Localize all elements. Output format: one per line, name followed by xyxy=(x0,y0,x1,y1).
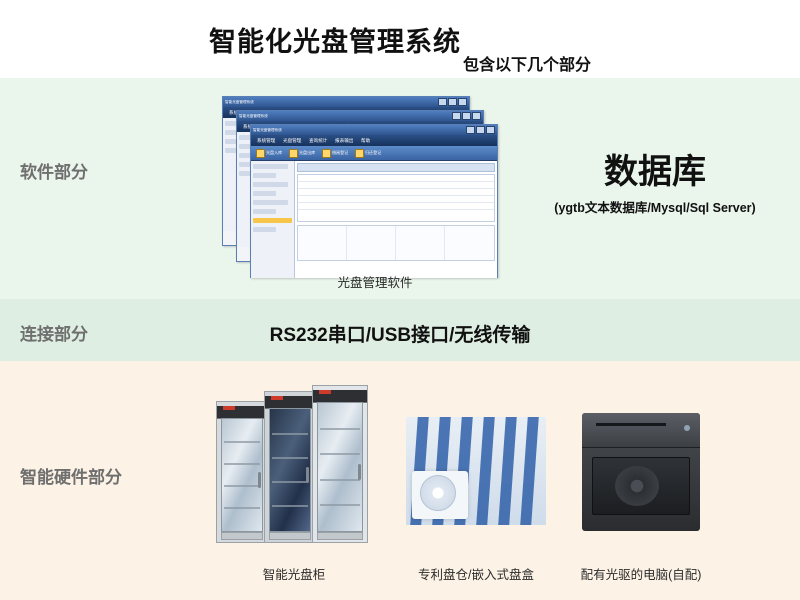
toolbar-label-0: 光盘入库 xyxy=(266,150,282,155)
window-buttons-front xyxy=(466,126,495,134)
cabinet-glass-door xyxy=(317,402,363,532)
cabinet-shelf xyxy=(224,507,260,509)
disc-icon xyxy=(420,475,456,511)
cabinet-shelf xyxy=(272,481,308,483)
close-icon xyxy=(458,98,467,106)
band-label-software: 软件部分 xyxy=(20,158,88,183)
cabinet-shelf xyxy=(320,453,360,455)
grid-line xyxy=(298,189,494,196)
sidebar-row-selected xyxy=(253,218,292,223)
disc-icon xyxy=(615,466,659,506)
cabinet-left xyxy=(216,401,268,543)
window-title-text-middle: 智能光盘管理系统 xyxy=(239,113,268,118)
software-screenshot-stack: 智能光盘管理系统 系统管理 光盘管理 查询统计 报表输出 xyxy=(222,96,512,276)
status-led-icon xyxy=(223,406,235,410)
minimize-icon xyxy=(466,126,475,134)
app-window-front: 智能光盘管理系统 系统管理 光盘管理 查询统计 报表输出 帮助 光盘入库 xyxy=(250,124,498,278)
toolbar-label-1: 光盘出库 xyxy=(299,150,315,155)
window-menubar-front: 系统管理 光盘管理 查询统计 报表输出 帮助 xyxy=(251,135,497,146)
caption-cabinet: 智能光盘柜 xyxy=(216,564,372,583)
optical-drive-tray xyxy=(592,457,690,515)
grid-body xyxy=(297,174,495,222)
close-icon xyxy=(486,126,495,134)
cabinet-shelf xyxy=(320,479,360,481)
connect-text: RS232串口/USB接口/无线传输 xyxy=(0,320,800,347)
grid-cell xyxy=(347,226,396,260)
window-titlebar-back: 智能光盘管理系统 xyxy=(223,97,469,107)
cabinet-handle xyxy=(358,464,361,480)
menu-item-1: 光盘管理 xyxy=(283,137,301,143)
sidebar-row xyxy=(253,173,276,178)
cabinet-right xyxy=(312,385,368,543)
caption-pc: 配有光驱的电脑(自配) xyxy=(572,564,710,583)
return-icon xyxy=(355,149,364,158)
cabinet-shelf xyxy=(224,485,260,487)
grid-cell xyxy=(445,226,494,260)
window-title-text-back: 智能光盘管理系统 xyxy=(225,99,254,104)
cabinet-handle xyxy=(258,472,261,488)
toolbar-button-3: 归还登记 xyxy=(355,149,383,158)
grid-header xyxy=(297,163,495,172)
hardware-image-cabinet xyxy=(216,381,372,543)
close-icon xyxy=(472,112,481,120)
cabinet-glass-door xyxy=(221,418,263,532)
diagram-page: 智能化光盘管理系统 包含以下几个部分 软件部分 智能光盘管理系统 系统管理 光盘… xyxy=(0,0,800,600)
window-titlebar-middle: 智能光盘管理系统 xyxy=(237,111,483,121)
status-led-icon xyxy=(319,390,331,394)
tray-stripe xyxy=(498,417,517,525)
maximize-icon xyxy=(448,98,457,106)
toolbar-label-2: 借阅登记 xyxy=(332,150,348,155)
window-buttons-middle xyxy=(452,112,481,120)
cabinet-shelf xyxy=(272,505,308,507)
pc-top-panel xyxy=(582,413,700,448)
cabinet-base xyxy=(221,532,263,540)
window-body-front xyxy=(251,161,497,278)
borrow-icon xyxy=(322,149,331,158)
toolbar-label-3: 归还登记 xyxy=(365,150,381,155)
tray-stripe xyxy=(476,417,495,525)
grid-cell xyxy=(298,226,347,260)
power-led-icon xyxy=(684,425,690,431)
caption-disc-tray: 专利盘仓/嵌入式盘盒 xyxy=(400,564,552,583)
toolbar-button-0: 光盘入库 xyxy=(256,149,284,158)
cabinet-shelf xyxy=(224,463,260,465)
sidebar-row xyxy=(253,227,276,232)
disc-in-icon xyxy=(256,149,265,158)
menu-item-3: 报表输出 xyxy=(335,137,353,143)
window-titlebar-front: 智能光盘管理系统 xyxy=(251,125,497,135)
sidebar-row xyxy=(253,191,276,196)
menu-item-4: 帮助 xyxy=(361,137,370,143)
grid-secondary xyxy=(297,225,495,261)
window-title-text-front: 智能光盘管理系统 xyxy=(253,127,282,132)
cabinet-shelf xyxy=(320,428,360,430)
minimize-icon xyxy=(452,112,461,120)
sidebar-row xyxy=(253,182,288,187)
maximize-icon xyxy=(462,112,471,120)
menu-item-0: 系统管理 xyxy=(257,137,275,143)
sidebar-row xyxy=(253,200,288,205)
disc-out-icon xyxy=(289,149,298,158)
minimize-icon xyxy=(438,98,447,106)
hardware-image-pc xyxy=(582,413,700,531)
window-sidebar-front xyxy=(251,161,295,278)
database-subtitle: (ygtb文本数据库/Mysql/Sql Server) xyxy=(520,197,790,216)
cabinet-shelf xyxy=(272,433,308,435)
cabinet-glass-door xyxy=(269,408,311,532)
database-block: 数据库 (ygtb文本数据库/Mysql/Sql Server) xyxy=(520,155,790,216)
hardware-image-disc-tray xyxy=(406,417,546,525)
window-buttons-back xyxy=(438,98,467,106)
optical-drive-slot xyxy=(596,423,666,426)
menu-item-2: 查询统计 xyxy=(309,137,327,143)
cabinet-middle xyxy=(264,391,316,543)
grid-line xyxy=(298,196,494,203)
page-title: 智能化光盘管理系统 包含以下几个部分 xyxy=(0,0,800,78)
cabinet-base xyxy=(317,532,363,540)
grid-line xyxy=(298,203,494,210)
grid-cell xyxy=(396,226,445,260)
sidebar-row xyxy=(253,164,288,169)
cabinet-shelf xyxy=(272,457,308,459)
cabinet-base xyxy=(269,532,311,540)
window-main-front xyxy=(295,161,497,278)
cabinet-shelf xyxy=(320,504,360,506)
status-led-icon xyxy=(271,396,283,400)
band-label-hardware: 智能硬件部分 xyxy=(20,463,122,488)
caption-software: 光盘管理软件 xyxy=(230,272,520,291)
toolbar-button-2: 借阅登记 xyxy=(322,149,350,158)
cabinet-shelf xyxy=(224,441,260,443)
sidebar-row xyxy=(253,209,276,214)
page-title-sub: 包含以下几个部分 xyxy=(463,51,591,78)
page-title-main: 智能化光盘管理系统 xyxy=(209,20,461,59)
grid-line xyxy=(298,175,494,182)
database-title: 数据库 xyxy=(520,155,790,191)
cabinet-handle xyxy=(306,467,309,483)
tray-stripe xyxy=(520,417,539,525)
grid-line xyxy=(298,182,494,189)
toolbar-button-1: 光盘出库 xyxy=(289,149,317,158)
maximize-icon xyxy=(476,126,485,134)
window-toolbar-front: 光盘入库 光盘出库 借阅登记 归还登记 xyxy=(251,146,497,161)
